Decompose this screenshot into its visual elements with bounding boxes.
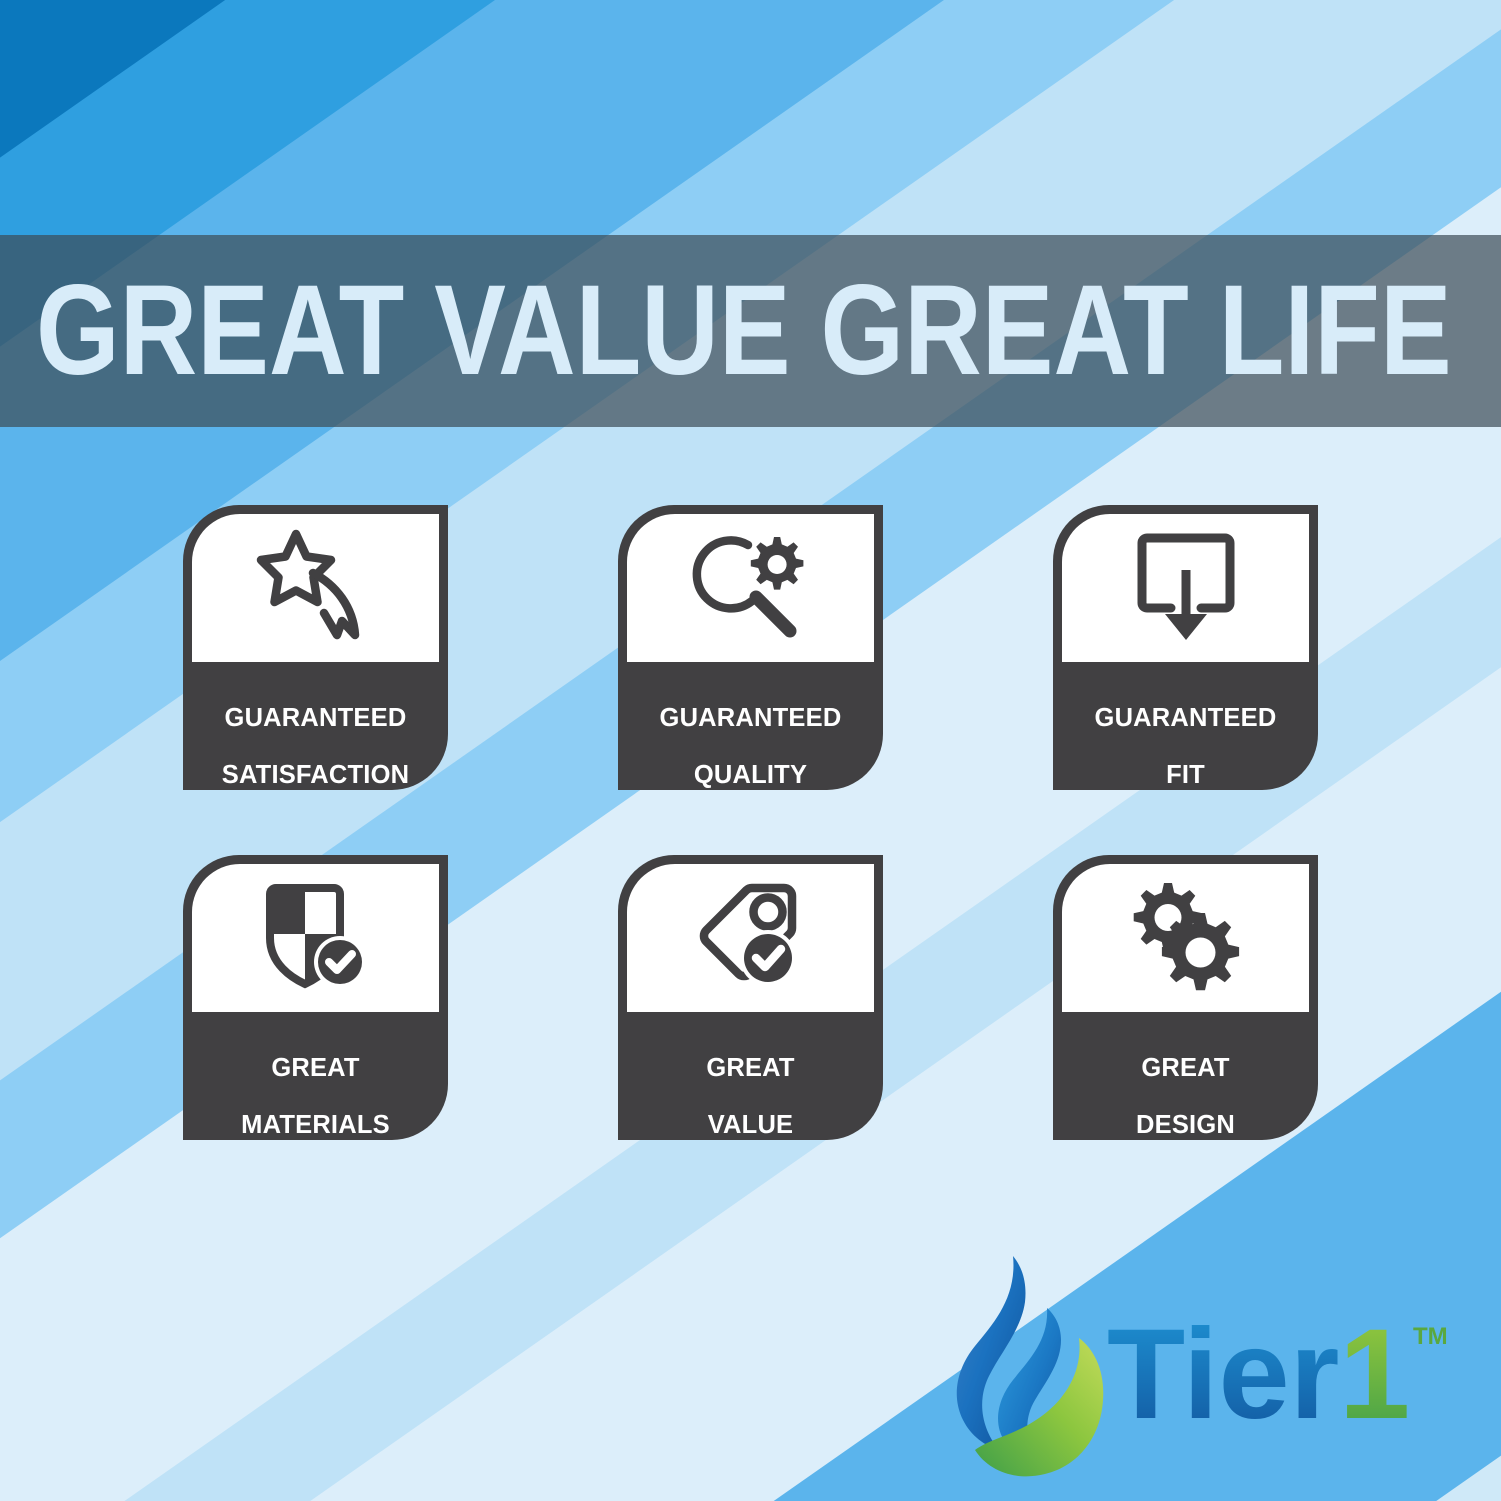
feature-card-great-materials[interactable]: GREAT MATERIALS — [183, 855, 448, 1140]
card-label: GREAT VALUE — [618, 1025, 883, 1139]
card-label-line-2: VALUE — [708, 1111, 794, 1139]
feature-card-guaranteed-fit[interactable]: GUARANTEED FIT — [1053, 505, 1318, 790]
card-icon-panel — [627, 514, 874, 662]
flame-leaf-droplet-icon — [955, 1250, 1115, 1490]
card-label-line-2: MATERIALS — [241, 1111, 390, 1139]
headline-banner: GREAT VALUE GREAT LIFE — [0, 235, 1501, 427]
logo-wordmark: Tier 1 TM — [1107, 1310, 1457, 1445]
promo-graphic: GREAT VALUE GREAT LIFE GUARANTEED SATISF… — [0, 0, 1501, 1501]
trademark-symbol: TM — [1413, 1323, 1448, 1350]
card-label-line-1: GUARANTEED — [660, 704, 842, 732]
card-label-line-2: SATISFACTION — [222, 761, 410, 789]
logo-text-one: 1 — [1339, 1310, 1410, 1440]
shield-check-icon — [260, 882, 372, 994]
feature-card-guaranteed-satisfaction[interactable]: GUARANTEED SATISFACTION — [183, 505, 448, 790]
page-title: GREAT VALUE GREAT LIFE — [36, 267, 1452, 395]
feature-card-great-value[interactable]: GREAT VALUE — [618, 855, 883, 1140]
card-label-line-2: QUALITY — [694, 761, 807, 789]
card-icon-panel — [627, 864, 874, 1012]
card-label-line-1: GUARANTEED — [225, 704, 407, 732]
card-label-line-1: GREAT — [1141, 1054, 1229, 1082]
card-label: GREAT MATERIALS — [183, 1025, 448, 1139]
feature-card-great-design[interactable]: GREAT DESIGN — [1053, 855, 1318, 1140]
brand-logo: Tier 1 TM — [955, 1250, 1475, 1495]
price-tag-check-icon — [692, 882, 810, 994]
card-icon-panel — [192, 864, 439, 1012]
card-label-line-1: GREAT — [271, 1054, 359, 1082]
card-label: GUARANTEED FIT — [1053, 675, 1318, 789]
card-label: GUARANTEED QUALITY — [618, 675, 883, 789]
magnifier-gear-icon — [690, 531, 812, 646]
logo-text-tier: Tier — [1107, 1310, 1339, 1440]
feature-card-grid: GUARANTEED SATISFACTION — [183, 505, 1343, 1150]
card-label-line-2: DESIGN — [1136, 1111, 1235, 1139]
feature-card-guaranteed-quality[interactable]: GUARANTEED QUALITY — [618, 505, 883, 790]
card-icon-panel — [1062, 864, 1309, 1012]
gears-icon — [1126, 881, 1246, 995]
card-label: GUARANTEED SATISFACTION — [183, 675, 448, 789]
card-icon-panel — [192, 514, 439, 662]
card-label-line-2: FIT — [1166, 761, 1205, 789]
card-label-line-1: GUARANTEED — [1095, 704, 1277, 732]
insert-arrow-box-icon — [1133, 530, 1239, 646]
card-icon-panel — [1062, 514, 1309, 662]
card-label: GREAT DESIGN — [1053, 1025, 1318, 1139]
shooting-star-icon — [256, 529, 376, 647]
card-label-line-1: GREAT — [706, 1054, 794, 1082]
